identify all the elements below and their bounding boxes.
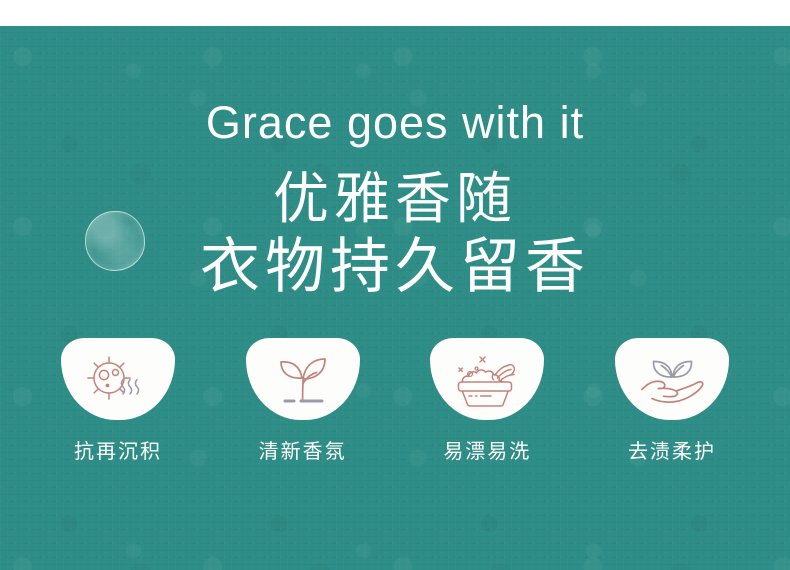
feature-item-anti-redeposition[interactable]: 抗再沉积: [45, 338, 191, 462]
feature-item-easy-rinse[interactable]: 易漂易洗: [414, 338, 560, 462]
feature-item-fresh-fragrance[interactable]: 清新香氛: [230, 338, 376, 462]
headline-chinese-line-1: 优雅香随: [0, 171, 790, 227]
top-white-band: [0, 0, 790, 26]
headline-english: Grace goes with it: [0, 100, 790, 145]
feature-label: 抗再沉积: [74, 442, 162, 462]
wash-basin-foam-hand-icon: [450, 349, 524, 409]
feature-label: 易漂易洗: [443, 442, 531, 462]
product-banner: Grace goes with it 优雅香随 衣物持久留香: [0, 0, 790, 570]
feature-badge: [615, 338, 729, 420]
feature-badge: [430, 338, 544, 420]
feature-badge: [61, 338, 175, 420]
feature-item-stain-care[interactable]: 去渍柔护: [599, 338, 745, 462]
feature-label: 清新香氛: [259, 442, 347, 462]
hand-holding-leaves-icon: [635, 351, 709, 407]
germ-odor-icon: [83, 353, 153, 405]
feature-badge: [246, 338, 360, 420]
headline-chinese-line-2: 衣物持久留香: [0, 237, 790, 297]
sprout-leaves-icon: [270, 350, 336, 408]
feature-label: 去渍柔护: [628, 442, 716, 462]
feature-list: 抗再沉积: [45, 338, 745, 462]
